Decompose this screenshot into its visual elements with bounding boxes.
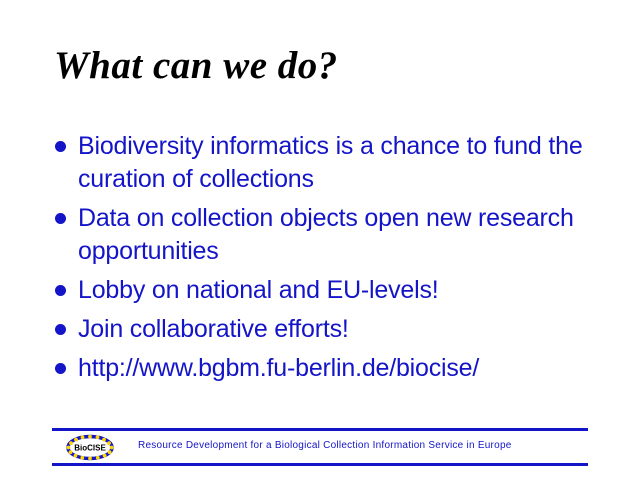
list-item-label: Data on collection objects open new rese… — [78, 202, 612, 268]
list-item-url[interactable]: http://www.bgbm.fu-berlin.de/biocise/ — [52, 352, 612, 385]
list-item: Data on collection objects open new rese… — [52, 202, 612, 268]
bullet-point-icon — [55, 213, 66, 224]
bullet-point-icon — [55, 141, 66, 152]
list-item-label: Join collaborative efforts! — [78, 313, 612, 346]
page-title: What can we do? — [54, 44, 594, 88]
list-item-label[interactable]: http://www.bgbm.fu-berlin.de/biocise/ — [78, 352, 612, 385]
presentation-slide: What can we do? Biodiversity informatics… — [0, 0, 640, 480]
slide-footer: BioCISE Resource Development for a Biolo… — [52, 428, 588, 466]
footer-caption: Resource Development for a Biological Co… — [138, 439, 584, 453]
list-item: Lobby on national and EU-levels! — [52, 274, 612, 307]
footer-divider-bottom — [52, 463, 588, 466]
bullet-point-icon — [55, 324, 66, 335]
list-item-label: Biodiversity informatics is a chance to … — [78, 130, 612, 196]
list-item: Biodiversity informatics is a chance to … — [52, 130, 612, 196]
bullet-point-icon — [55, 285, 66, 296]
bullet-point-icon — [55, 363, 66, 374]
bullet-list: Biodiversity informatics is a chance to … — [52, 130, 612, 391]
biocise-logo-text: BioCISE — [74, 444, 106, 453]
footer-divider-top — [52, 428, 588, 431]
list-item: Join collaborative efforts! — [52, 313, 612, 346]
list-item-label: Lobby on national and EU-levels! — [78, 274, 612, 307]
biocise-logo-icon: BioCISE — [64, 434, 116, 461]
